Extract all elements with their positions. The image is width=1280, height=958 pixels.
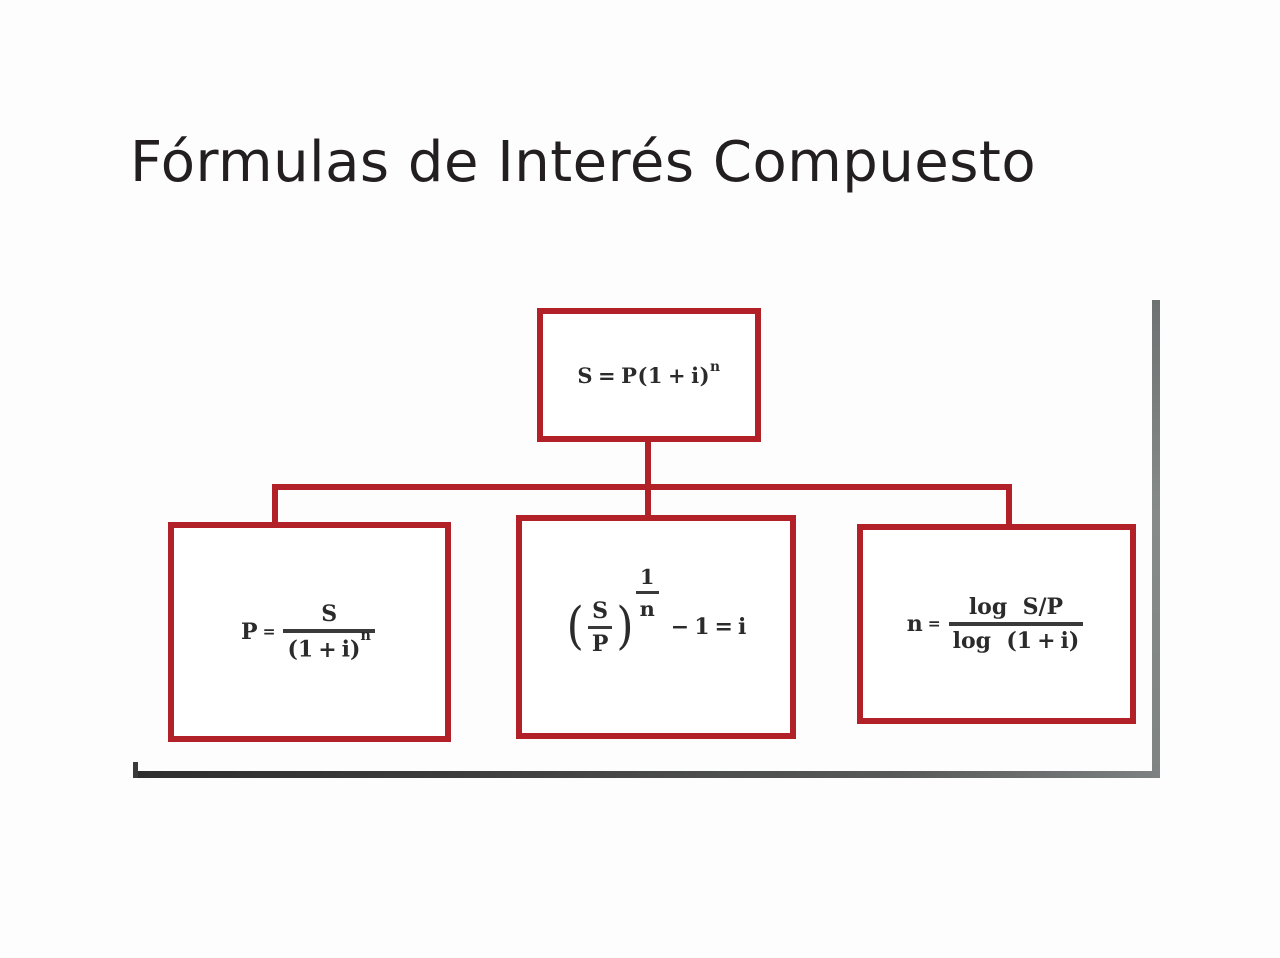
symbol-equals: = [928, 615, 941, 633]
symbol-exponent-n: n [710, 359, 721, 375]
fraction-numerator: S [588, 598, 612, 625]
formula-box-monto-compuesto[interactable]: S = P ( 1 + i ) n S = P(1 + i)ⁿ [537, 308, 761, 442]
connector-drop-right [1006, 484, 1012, 526]
frame-left-tick [133, 762, 138, 778]
symbol-S: S [577, 363, 593, 388]
symbol-P: P [621, 363, 637, 388]
symbol-minus: − [671, 614, 689, 640]
fraction-denominator: (1+i)n [283, 634, 375, 662]
symbol-i: i [738, 614, 746, 640]
exponent-bar [636, 591, 659, 594]
symbol-close-paren: ) [700, 363, 710, 388]
symbol-one: 1 [648, 363, 663, 388]
symbol-close-paren: ) [616, 607, 633, 647]
symbol-one: 1 [298, 637, 313, 663]
symbol-n: n [907, 611, 923, 637]
formula-monto-compuesto: S = P ( 1 + i ) n S = P(1 + i)ⁿ [577, 363, 720, 388]
formula-valor-presente: P = S (1+i)n P = S / (1 + i)ⁿ [241, 601, 378, 662]
symbol-plus: + [1037, 628, 1055, 654]
fraction-s-over-p: S P [588, 598, 613, 657]
fraction-numerator: S [317, 601, 341, 628]
symbol-P: P [241, 619, 258, 645]
symbol-plus: + [668, 363, 686, 388]
fraction-bar [588, 626, 613, 629]
formula-box-valor-presente[interactable]: P = S (1+i)n P = S / (1 + i)ⁿ [168, 522, 451, 742]
fraction-numero-de-periodos: log S/P log (1+i) [949, 594, 1084, 654]
exponent-denominator: n [636, 595, 659, 621]
symbol-open-paren: ( [1006, 628, 1016, 654]
symbol-open-paren: ( [567, 607, 584, 647]
symbol-i: i [691, 363, 699, 388]
fraction-denominator: P [588, 630, 613, 657]
log-denominator: log [953, 628, 991, 654]
frame-vertical-line [1152, 300, 1160, 778]
exponent-numerator: 1 [636, 564, 659, 590]
connector-drop-middle [645, 484, 651, 517]
symbol-one: 1 [1017, 628, 1032, 654]
fraction-bar [949, 622, 1084, 626]
slide-canvas: Fórmulas de Interés Compuesto S = P ( 1 … [0, 0, 1280, 958]
symbol-close-paren: ) [350, 637, 360, 663]
symbol-i: i [1061, 628, 1069, 654]
symbol-equals: = [263, 623, 276, 641]
symbol-open-paren: ( [637, 363, 647, 388]
connector-root-stem [645, 440, 651, 490]
connector-drop-left [272, 484, 278, 524]
formula-box-tasa-de-interes[interactable]: ( S P ) 1 n − 1 = i [516, 515, 796, 739]
symbol-exponent-n: n [360, 627, 371, 644]
fraction-valor-presente: S (1+i)n [283, 601, 375, 662]
exponent-one-over-n: 1 n [636, 564, 659, 621]
fraction-denominator: log (1+i) [949, 627, 1084, 654]
symbol-one: 1 [694, 614, 709, 640]
symbol-plus: + [318, 637, 336, 663]
formula-numero-de-periodos: n = log S/P log (1+i) n = log S/P / log … [907, 594, 1087, 654]
log-numerator: log [969, 594, 1007, 620]
frame-bottom-line [133, 771, 1160, 778]
log-numerator-arg: S/P [1023, 594, 1063, 620]
connector-horizontal-bus [272, 484, 1012, 490]
symbol-equals: = [598, 363, 616, 388]
symbol-open-paren: ( [287, 637, 297, 663]
fraction-numerator: log S/P [965, 594, 1067, 621]
symbol-i: i [342, 637, 350, 663]
page-title: Fórmulas de Interés Compuesto [130, 130, 1160, 196]
formula-tasa-de-interes: ( S P ) 1 n − 1 = i [566, 598, 747, 657]
formula-box-numero-de-periodos[interactable]: n = log S/P log (1+i) n = log S/P / log … [857, 524, 1136, 724]
symbol-close-paren: ) [1069, 628, 1079, 654]
symbol-equals: = [715, 614, 733, 640]
